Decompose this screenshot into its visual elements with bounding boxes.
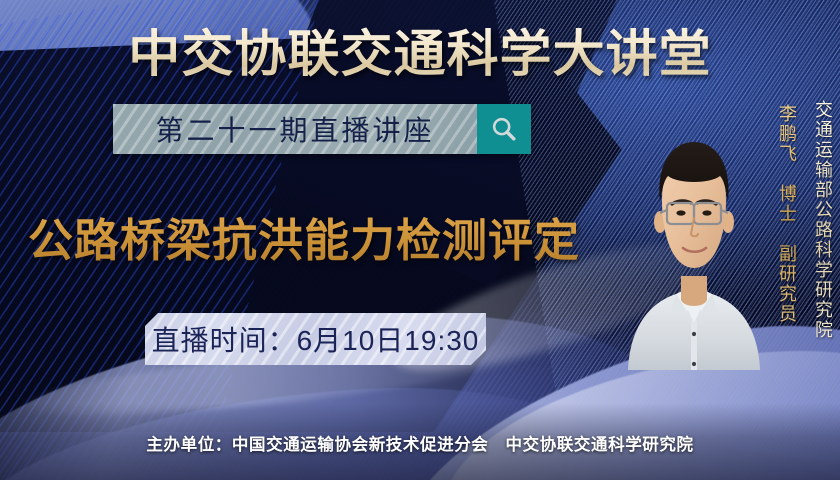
- search-button[interactable]: [477, 104, 531, 154]
- episode-label: 第二十一期直播讲座: [155, 109, 434, 149]
- speaker-organization: 交通运输部公路科学研究院: [813, 100, 832, 340]
- poster-content: 中交协联交通科学大讲堂 第二十一期直播讲座 公路桥梁抗洪能力检测评定 直播时间：…: [0, 0, 840, 480]
- speaker-name-title: 李鹏飞 博士 副研究员: [777, 104, 796, 324]
- episode-banner-body: 第二十一期直播讲座: [113, 104, 477, 154]
- webinar-poster: 中交协联交通科学大讲堂 第二十一期直播讲座 公路桥梁抗洪能力检测评定 直播时间：…: [0, 0, 840, 480]
- page-title: 中交协联交通科学大讲堂: [0, 14, 840, 86]
- lecture-headline: 公路桥梁抗洪能力检测评定: [28, 204, 580, 269]
- organizers-footer: 主办单位：中国交通运输协会新技术促进分会 中交协联交通科学研究院: [0, 431, 840, 455]
- search-icon: [490, 115, 518, 143]
- episode-banner: 第二十一期直播讲座: [113, 104, 531, 154]
- live-time-label: 直播时间：6月10日19:30: [152, 319, 480, 359]
- live-time-badge: 直播时间：6月10日19:30: [145, 313, 486, 365]
